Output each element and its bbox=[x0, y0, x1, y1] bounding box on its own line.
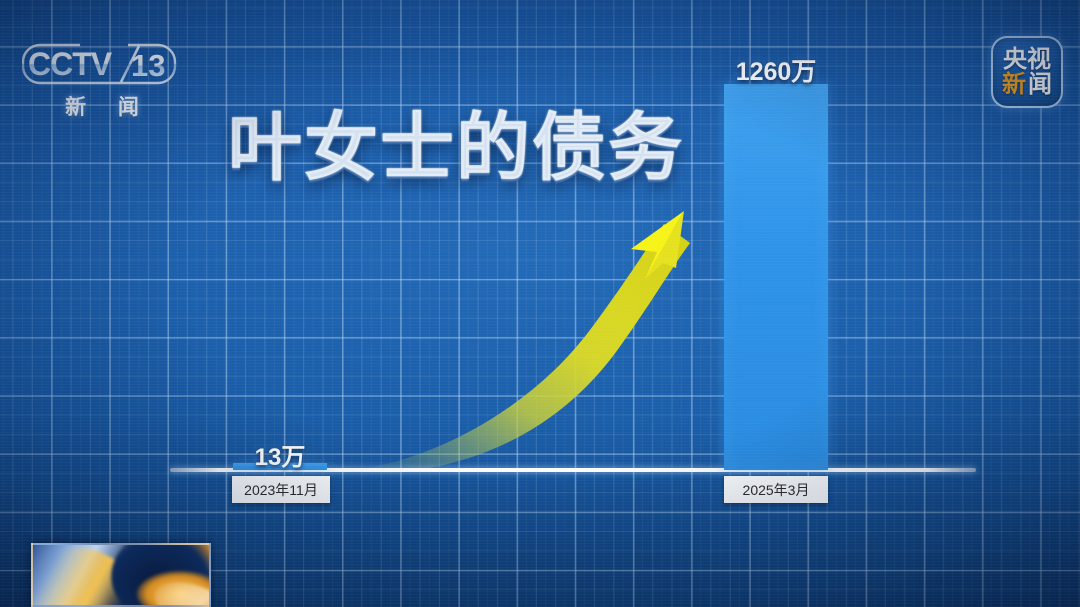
growth-arrow-icon bbox=[0, 0, 1080, 607]
bar-value-2025-03: 1260万 bbox=[724, 52, 828, 88]
broadcast-chart-screen: CCTV 13 新 闻 央视 新 闻 叶女士的债务 bbox=[0, 0, 1080, 607]
category-label-2023-11: 2023年11月 bbox=[232, 476, 330, 503]
category-label-2025-03: 2025年3月 bbox=[724, 476, 828, 503]
bar-chart: 13万 2023年11月 1260万 2025年3月 bbox=[0, 0, 1080, 607]
bar-2025-03 bbox=[724, 84, 828, 470]
picture-in-picture-thumbnail[interactable] bbox=[31, 543, 211, 607]
bar-value-2023-11: 13万 bbox=[233, 437, 327, 472]
